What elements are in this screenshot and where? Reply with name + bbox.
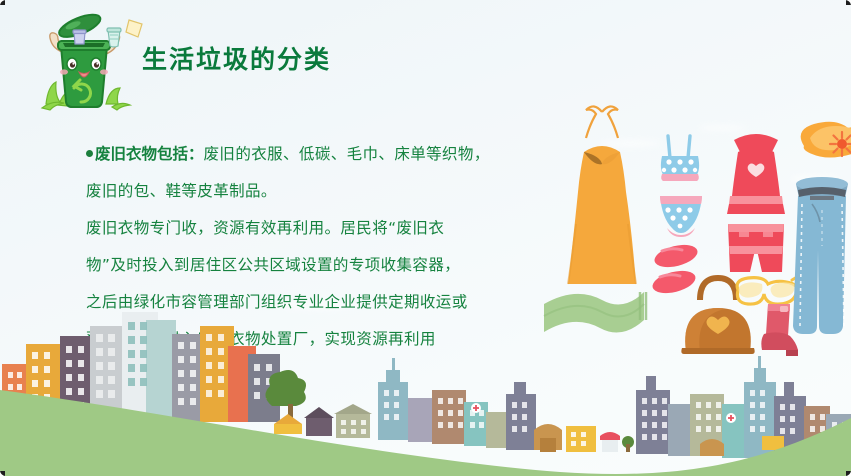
sun-hat-icon — [801, 122, 851, 158]
bullet-icon — [86, 150, 93, 157]
body-line: 物”及时投入到居住区公共区域设置的专项收集容器， — [86, 247, 556, 284]
tree-and-house-cluster — [265, 370, 372, 438]
body-line-text: 废旧的衣服、低碳、毛巾、床单等织物， — [204, 145, 490, 163]
corner-marker — [846, 471, 851, 476]
page-title: 生活垃圾的分类 — [142, 40, 331, 76]
slide-root: 生活垃圾的分类 废旧衣物包括：废旧的衣服、低碳、毛巾、床单等织物， 废旧的包、鞋… — [0, 0, 851, 476]
building-cluster-mid — [378, 358, 536, 450]
cup-icon — [73, 30, 86, 44]
corner-marker — [0, 0, 5, 5]
blue-bikini-bottom-icon — [660, 196, 702, 237]
body-line-text: 废旧的包、鞋等皮革制品。 — [86, 182, 277, 200]
body-line-text: 物”及时投入到居住区公共区域设置的专项收集容器， — [86, 256, 460, 274]
orange-dress-icon — [568, 106, 636, 284]
city-skyline-scene — [0, 286, 851, 476]
body-line-lead: 废旧衣物包括： — [95, 145, 204, 163]
body-line: 废旧衣物专门收，资源有效再利用。居民将“废旧衣 — [86, 210, 556, 247]
trash-bin-mascot — [34, 8, 146, 116]
market-row — [534, 424, 634, 452]
body-line-text: 废旧衣物专门收，资源有效再利用。居民将“废旧衣 — [86, 219, 444, 237]
blue-bikini-top-icon — [661, 136, 699, 181]
body-line: 废旧衣物包括：废旧的衣服、低碳、毛巾、床单等织物， — [86, 136, 556, 173]
red-top-icon — [727, 134, 785, 214]
corner-marker — [846, 0, 851, 5]
body-line: 废旧的包、鞋等皮革制品。 — [86, 173, 556, 210]
red-shorts-icon — [728, 224, 784, 272]
corner-marker — [0, 471, 5, 476]
